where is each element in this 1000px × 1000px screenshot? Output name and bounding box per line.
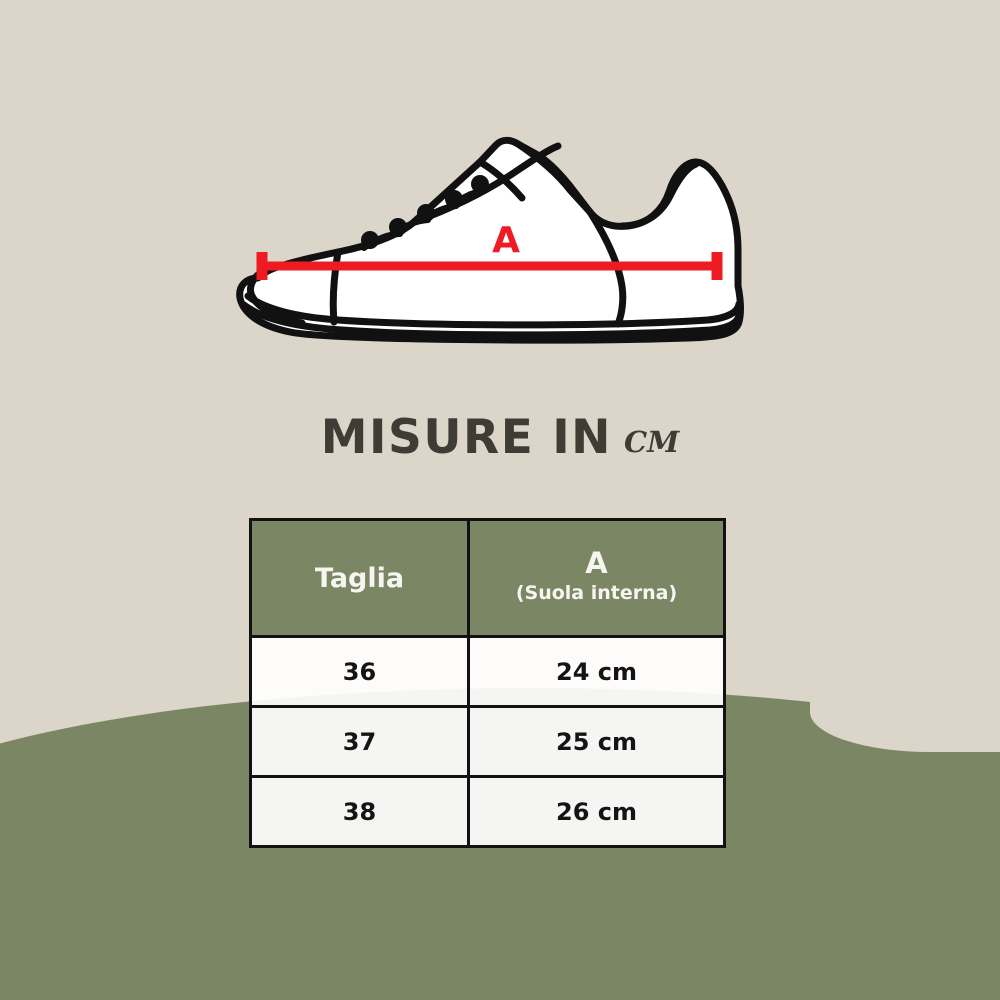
table-row: 37 25 cm — [251, 707, 725, 777]
measurement-label-a: A — [492, 220, 520, 261]
cell-measure: 24 cm — [469, 637, 725, 707]
title-unit-text: cm — [624, 413, 679, 462]
header-label-taglia: Taglia — [252, 563, 467, 594]
cell-size: 36 — [251, 637, 469, 707]
table-row: 36 24 cm — [251, 637, 725, 707]
header-cell-a: A (Suola interna) — [469, 520, 725, 637]
table-header: Taglia A (Suola interna) — [251, 520, 725, 637]
table-body: 36 24 cm 37 25 cm 38 26 cm — [251, 637, 725, 847]
table-row: 38 26 cm — [251, 777, 725, 847]
cell-measure: 26 cm — [469, 777, 725, 847]
cell-size: 37 — [251, 707, 469, 777]
header-label-a: A — [470, 548, 723, 578]
table-header-row: Taglia A (Suola interna) — [251, 520, 725, 637]
cell-measure: 25 cm — [469, 707, 725, 777]
cell-size: 38 — [251, 777, 469, 847]
green-block-right-edge — [860, 745, 1000, 1000]
size-chart-table: Taglia A (Suola interna) 36 24 cm 37 25 … — [249, 518, 726, 848]
beige-curve-shape-right — [810, 0, 1000, 752]
header-sublabel-suola-interna: (Suola interna) — [470, 578, 723, 608]
size-guide-card: A MISURE INcm Taglia A (Suola interna) — [0, 0, 1000, 1000]
sneaker-illustration: A — [218, 100, 768, 350]
sneaker-line-art: A — [218, 100, 768, 350]
page-title: MISURE INcm — [0, 410, 1000, 465]
title-main-text: MISURE IN — [321, 410, 612, 465]
header-cell-taglia: Taglia — [251, 520, 469, 637]
